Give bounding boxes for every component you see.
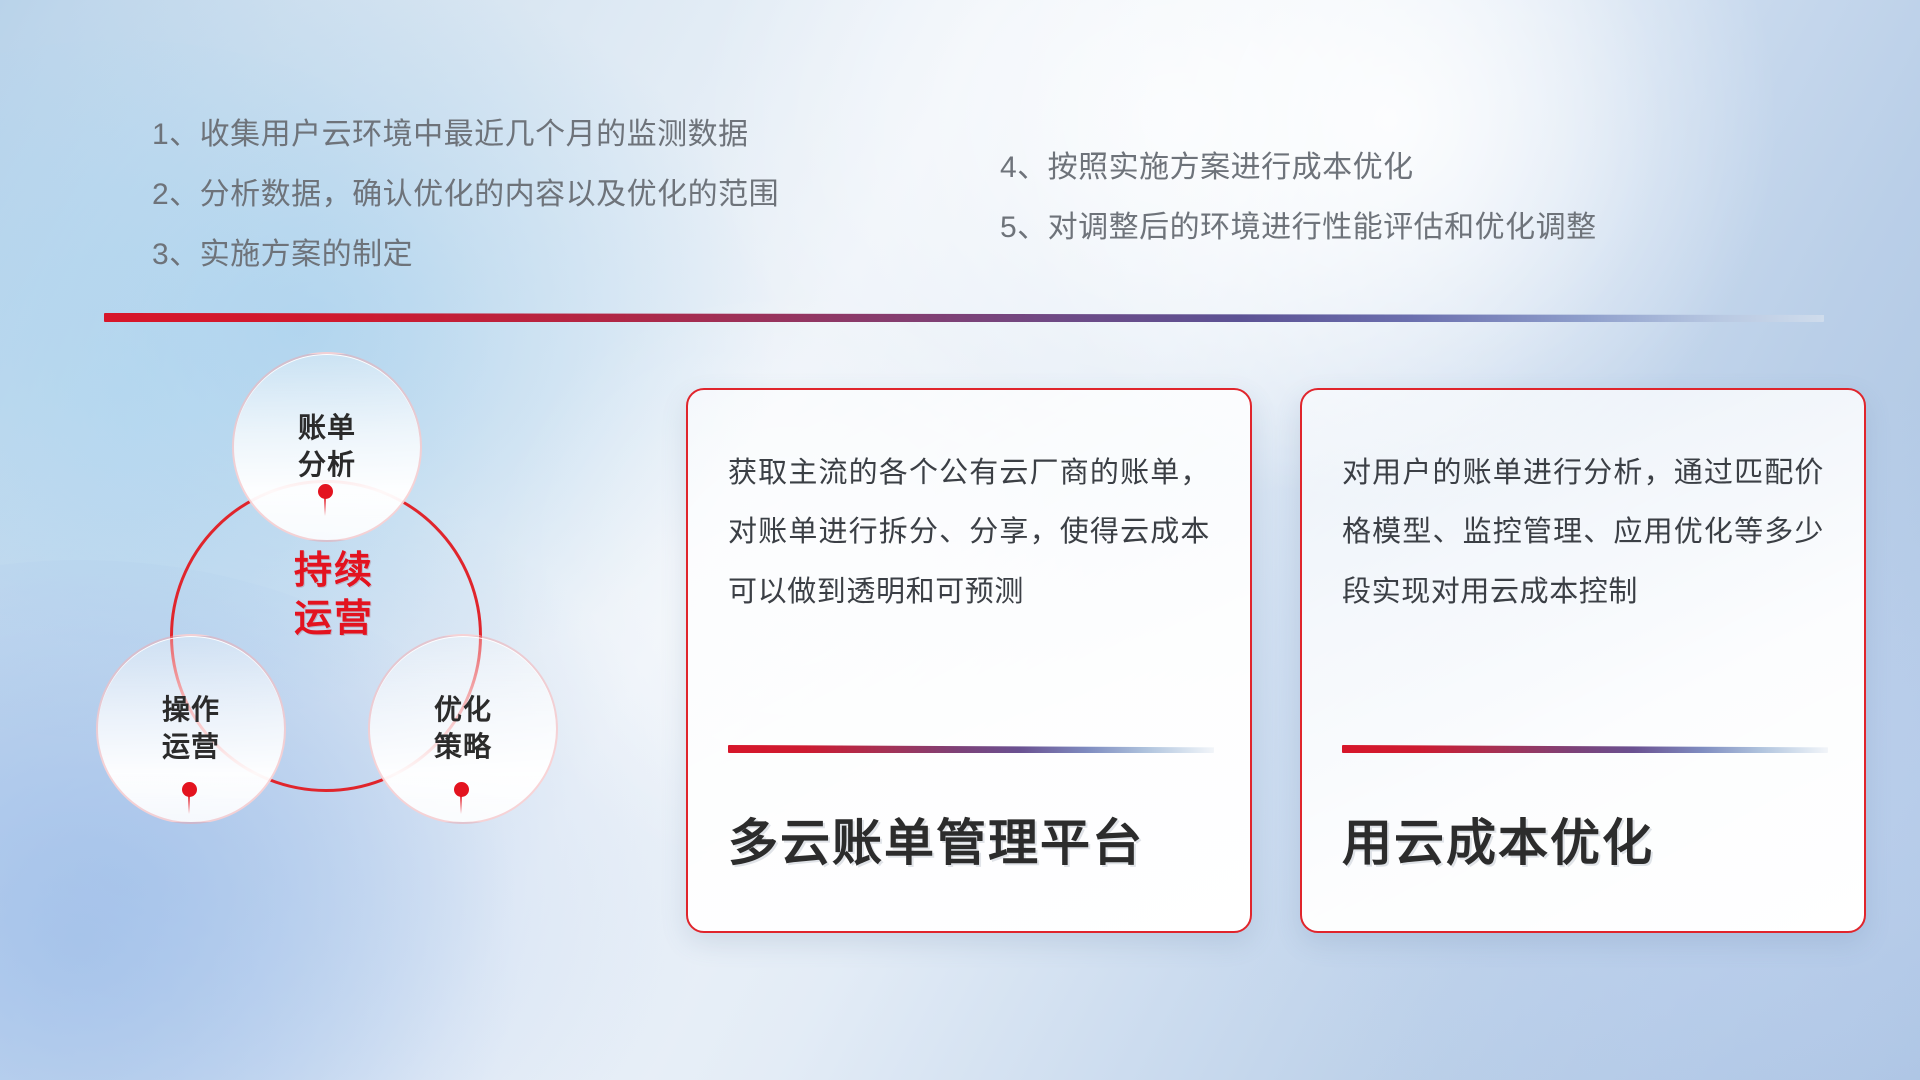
card-body-text: 对用户的账单进行分析，通过匹配价格模型、监控管理、应用优化等多少段实现对用云成本… [1342,444,1824,622]
card-accent-rule [1342,745,1828,753]
step-item-4: 4、按照实施方案进行成本优化 [1000,153,1597,183]
step-item-1: 1、收集用户云环境中最近几个月的监测数据 [152,120,779,150]
steps-list-left: 1、收集用户云环境中最近几个月的监测数据 2、分析数据，确认优化的内容以及优化的… [152,120,779,270]
node-dot-right [454,782,469,797]
section-divider-bar [104,313,1824,322]
card-multicloud-billing-platform[interactable]: 获取主流的各个公有云厂商的账单，对账单进行拆分、分享，使得云成本可以做到透明和可… [686,388,1252,933]
node-tail-left [188,796,190,814]
node-dot-left [182,782,197,797]
diagram-node-label: 操作 运营 [162,692,220,766]
node-tail-top [324,498,326,516]
slide-canvas: 1、收集用户云环境中最近几个月的监测数据 2、分析数据，确认优化的内容以及优化的… [0,0,1920,1080]
card-accent-rule [728,745,1214,753]
continuous-operations-diagram: 账单 分析 操作 运营 优化 策略 持续 运营 [96,352,616,952]
step-item-2: 2、分析数据，确认优化的内容以及优化的范围 [152,180,779,210]
step-item-3: 3、实施方案的制定 [152,240,779,270]
node-tail-right [460,796,462,814]
diagram-node-label: 账单 分析 [298,410,356,484]
card-title: 用云成本优化 [1342,803,1654,875]
diagram-node-billing-analysis[interactable]: 账单 分析 [232,352,422,542]
card-cloud-cost-optimization[interactable]: 对用户的账单进行分析，通过匹配价格模型、监控管理、应用优化等多少段实现对用云成本… [1300,388,1866,933]
card-body-text: 获取主流的各个公有云厂商的账单，对账单进行拆分、分享，使得云成本可以做到透明和可… [728,444,1210,622]
step-item-5: 5、对调整后的环境进行性能评估和优化调整 [1000,213,1597,243]
diagram-node-label: 优化 策略 [434,692,492,766]
node-dot-top [318,484,333,499]
section-divider [104,313,1824,322]
steps-list-right: 4、按照实施方案进行成本优化 5、对调整后的环境进行性能评估和优化调整 [1000,153,1597,243]
diagram-center-label: 持续 运营 [254,548,414,643]
card-title: 多云账单管理平台 [728,803,1144,875]
